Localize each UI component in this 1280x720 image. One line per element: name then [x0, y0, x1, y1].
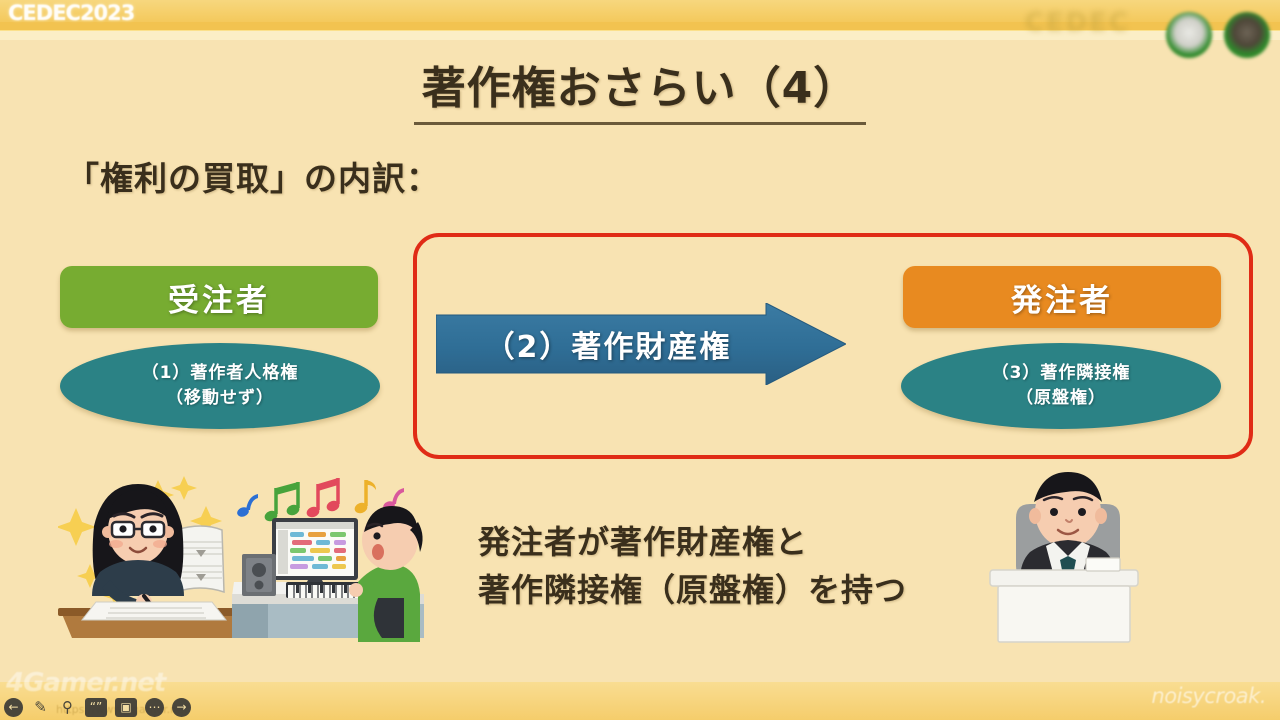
role-box-client: 発注者 [903, 266, 1221, 328]
back-button[interactable]: ← [4, 698, 23, 717]
conclusion-text: 発注者が著作財産権と 著作隣接権（原盤権）を持つ [478, 518, 907, 614]
cedec-logo: CEDEC2023 [8, 1, 134, 25]
ellipse-moral-rights-line2: （移動せず） [166, 386, 274, 411]
quote-button[interactable]: “” [85, 698, 107, 717]
search-button[interactable]: ⚲ [58, 698, 77, 717]
top-right-blurred-logo-text: CEDEC [1025, 8, 1130, 38]
transfer-arrow: （2）著作財産権 [436, 303, 846, 385]
dtm-workstation-illustration [232, 470, 428, 642]
client-businessman-illustration [982, 462, 1154, 648]
ellipse-neighboring-rights-line2: （原盤権） [1016, 386, 1106, 411]
page-title: 著作権おさらい（4） [0, 52, 1280, 125]
ellipse-moral-rights: （1）著作者人格権 （移動せず） [60, 343, 380, 429]
conclusion-line2: 著作隣接権（原盤権）を持つ [478, 566, 907, 614]
footer-band [0, 682, 1280, 720]
forward-button[interactable]: → [172, 698, 191, 717]
page-title-text: 著作権おさらい（4） [414, 52, 867, 125]
conclusion-line1: 発注者が著作財産権と [478, 518, 907, 566]
arrow-shape-icon [436, 303, 846, 385]
subtitle: 「権利の買取」の内訳： [66, 152, 440, 200]
pencil-button[interactable]: ✎ [31, 698, 50, 717]
ellipse-moral-rights-line1: （1）著作者人格権 [142, 361, 299, 386]
slide-screenshot: CEDEC2023 CEDEC 著作権おさらい（4） 「権利の買取」の内訳： 受… [0, 0, 1280, 720]
watermark-4gamer: 4Gamer.net [6, 668, 165, 698]
camera-button[interactable]: ▣ [115, 698, 137, 717]
ellipse-neighboring-rights: （3）著作隣接権 （原盤権） [901, 343, 1221, 429]
watermark-noisycroak: noisycroak. [1151, 684, 1266, 708]
more-button[interactable]: ⋯ [145, 698, 164, 717]
role-box-contractor: 受注者 [60, 266, 378, 328]
player-toolbar[interactable]: ← ✎ ⚲ “” ▣ ⋯ → [4, 696, 191, 718]
ellipse-neighboring-rights-line1: （3）著作隣接権 [992, 361, 1131, 386]
